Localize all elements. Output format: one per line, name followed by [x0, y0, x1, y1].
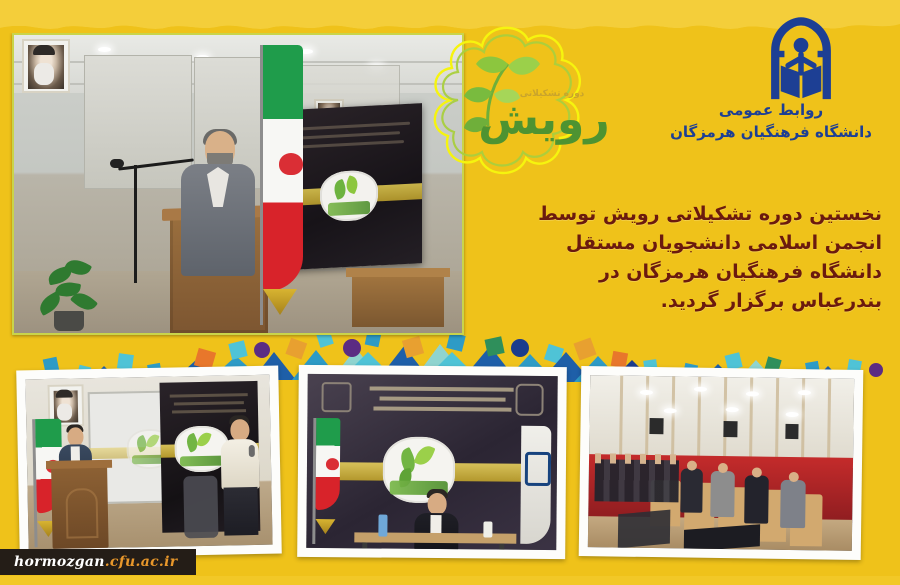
wall-panel: [84, 55, 192, 189]
headline-line-2: انجمن اسلامی دانشجویان مستقل: [462, 229, 882, 258]
seal-left: [321, 382, 351, 412]
photo-audience[interactable]: [579, 366, 864, 560]
wall-speaker: [723, 421, 737, 437]
potted-plant: [38, 247, 100, 331]
url-prefix: hormozgan: [14, 554, 105, 570]
iran-flag: [312, 418, 337, 544]
table-front: [684, 524, 760, 551]
standing-presenter-person: [216, 415, 264, 536]
khomeini-portrait: [22, 39, 70, 93]
attendee-row-back: [594, 459, 679, 502]
university-flag: [520, 426, 551, 544]
side-podium: [352, 275, 444, 327]
website-url-bar[interactable]: hormozgan.cfu.ac.ir: [0, 549, 196, 575]
chair: [183, 476, 218, 539]
podium: [51, 466, 109, 549]
iran-flag: [260, 45, 300, 325]
speaker-person: [179, 131, 257, 281]
microphone-stand: [134, 165, 137, 283]
university-seal: [515, 384, 543, 416]
ceiling-light: [98, 47, 111, 52]
paper-cup: [483, 521, 492, 537]
bottom-strip: [0, 576, 900, 585]
university-logo-text: روابط عمومی دانشگاه فرهنگیان هرمزگان: [666, 100, 876, 144]
headline-line-3: دانشگاه فرهنگیان هرمزگان در: [462, 258, 882, 287]
headline-text: نخستین دوره تشکیلاتی رویش توسط انجمن اسل…: [462, 200, 882, 316]
photo-speaker-and-presenter[interactable]: [16, 366, 282, 559]
poster-canvas: رویش دوره تشکیلاتی روابط عمومی دانشگاه ف…: [0, 0, 900, 585]
rooyesh-badge-on-banner: [320, 169, 378, 222]
attendee: [680, 468, 703, 512]
rooyesh-wordmark: رویش: [478, 94, 609, 145]
table-front: [618, 510, 671, 549]
rooyesh-logo: رویش دوره تشکیلاتی: [424, 8, 614, 188]
university-line-2: دانشگاه فرهنگیان هرمزگان: [666, 122, 876, 144]
attendee-heads: [595, 453, 679, 464]
farhangian-university-logo-icon: [755, 14, 847, 106]
rooyesh-logo-icon: رویش دوره تشکیلاتی: [424, 8, 614, 188]
wall-speaker: [649, 418, 663, 434]
water-bottle: [378, 515, 387, 537]
attendee: [744, 475, 769, 523]
rooyesh-superscript: دوره تشکیلاتی: [520, 89, 585, 99]
university-line-1: روابط عمومی: [666, 100, 876, 122]
headline-line-4: بندرعباس برگزار گردید.: [462, 287, 882, 316]
url-suffix: .cfu.ac.ir: [105, 554, 178, 570]
photo-seated-speaker[interactable]: [297, 365, 567, 559]
attendee: [780, 480, 806, 528]
headline-line-1: نخستین دوره تشکیلاتی رویش توسط: [462, 200, 882, 229]
wall-speaker: [785, 424, 798, 439]
attendee: [710, 471, 735, 517]
main-event-photo[interactable]: [12, 33, 464, 335]
